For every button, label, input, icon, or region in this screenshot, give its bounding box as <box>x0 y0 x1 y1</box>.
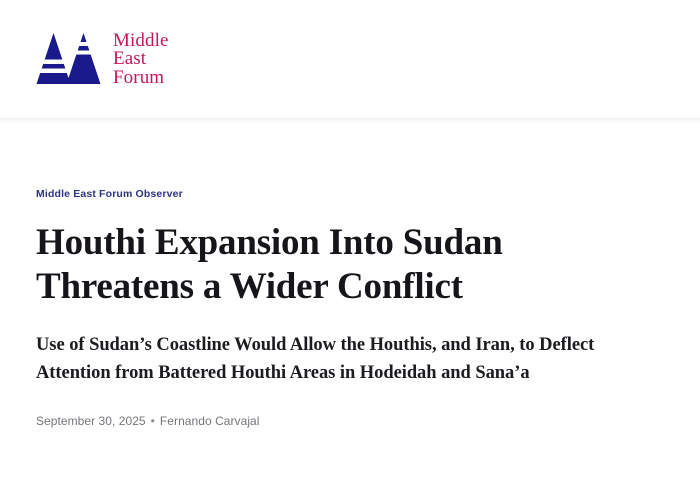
article-body: Middle East Forum Observer Houthi Expans… <box>0 118 700 428</box>
article-kicker-link[interactable]: Middle East Forum Observer <box>36 188 183 201</box>
mef-mountain-m-logo-icon <box>36 31 104 88</box>
header-divider <box>0 118 700 123</box>
brand-wordmark: Middle East Forum <box>113 31 169 87</box>
byline: September 30, 2025 • Fernando Carvajal <box>36 414 664 428</box>
site-header: Middle East Forum <box>0 0 700 118</box>
wordmark-line-3: Forum <box>113 69 169 87</box>
article-deck: Use of Sudan’s Coastline Would Allow the… <box>36 332 661 387</box>
brand-logo-link[interactable]: Middle East Forum <box>36 31 169 88</box>
author-link[interactable]: Fernando Carvajal <box>160 414 260 428</box>
publish-date: September 30, 2025 <box>36 414 146 428</box>
byline-separator: • <box>151 414 155 428</box>
wordmark-line-2: East <box>113 50 169 68</box>
page-title: Houthi Expansion Into Sudan Threatens a … <box>36 221 661 308</box>
article-page: Middle East Forum Middle East Forum Obse… <box>0 0 700 490</box>
